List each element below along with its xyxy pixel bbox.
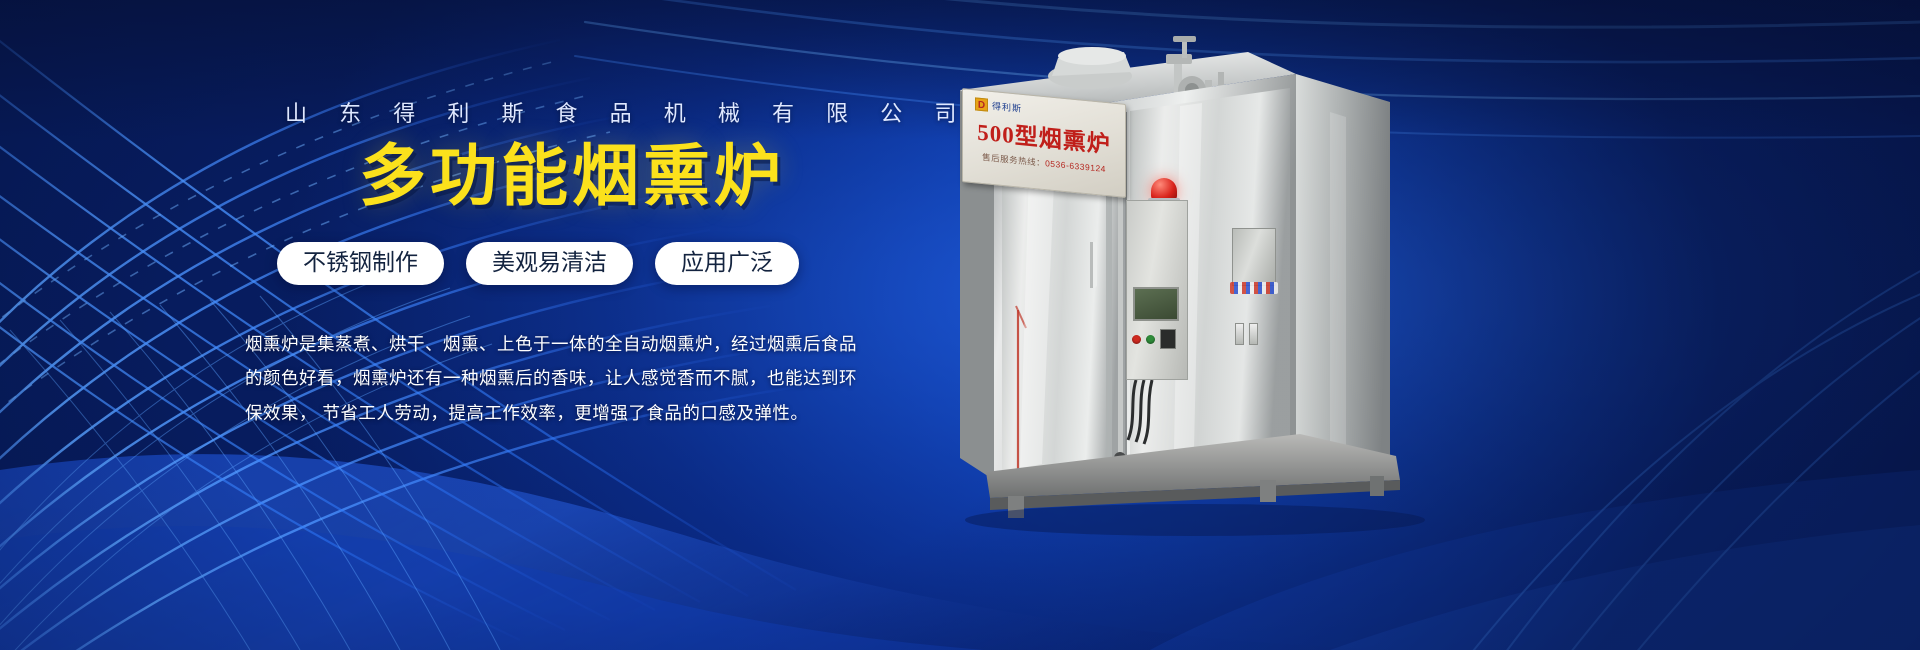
product-nameplate: D 得利斯 500型烟熏炉 售后服务热线：0536-6339124 xyxy=(962,88,1126,198)
valve-knob xyxy=(1235,323,1244,345)
door-handle xyxy=(1090,242,1097,288)
selector-switch[interactable] xyxy=(1160,329,1176,349)
wire-bundle xyxy=(1230,282,1278,294)
page-title: 多功能烟熏炉 xyxy=(245,142,865,212)
model-text: 型烟熏炉 xyxy=(1015,122,1111,157)
feature-pill-group: 不锈钢制作 美观易清洁 应用广泛 xyxy=(277,242,865,285)
service-hotline-label: 售后服务热线： xyxy=(982,152,1045,168)
description-line-2: 的颜色好看，烟熏炉还有一种烟熏后的香味，让人感觉香而不腻，也能达到环 xyxy=(245,361,820,395)
hero-copy: 山 东 得 利 斯 食 品 机 械 有 限 公 司 多功能烟熏炉 不锈钢制作 美… xyxy=(245,96,865,430)
start-button[interactable] xyxy=(1146,335,1155,344)
red-alarm-lamp-icon xyxy=(1151,178,1177,200)
product-description: 烟熏炉是集蒸煮、烘干、烟熏、上色于一体的全自动烟熏炉，经过烟熏后食品 的颜色好看… xyxy=(245,327,820,429)
stop-button[interactable] xyxy=(1132,335,1141,344)
company-subtitle: 山 东 得 利 斯 食 品 机 械 有 限 公 司 xyxy=(245,96,865,128)
junction-box xyxy=(1232,228,1276,286)
feature-pill-stainless[interactable]: 不锈钢制作 xyxy=(277,242,444,285)
model-number: 500 xyxy=(977,120,1015,149)
valve-knob-group xyxy=(1235,323,1258,345)
service-hotline-number: 0536-6339124 xyxy=(1045,158,1106,174)
control-display-screen xyxy=(1133,287,1179,321)
feature-pill-widely-used[interactable]: 应用广泛 xyxy=(655,242,799,285)
description-line-3: 保效果， 节省工人劳动，提高工作效率，更增强了食品的口感及弹性。 xyxy=(245,396,820,430)
feature-pill-easyclean[interactable]: 美观易清洁 xyxy=(466,242,633,285)
logo-mark-icon: D xyxy=(975,97,988,111)
operator-control-panel[interactable] xyxy=(1126,200,1188,380)
brand-name: 得利斯 xyxy=(992,99,1022,115)
description-line-1: 烟熏炉是集蒸煮、烘干、烟熏、上色于一体的全自动烟熏炉，经过烟熏后食品 xyxy=(245,327,820,361)
control-button-row[interactable] xyxy=(1132,329,1176,349)
valve-knob xyxy=(1249,323,1258,345)
smokehouse-oven-photo: D 得利斯 500型烟熏炉 售后服务热线：0536-6339124 xyxy=(930,28,1490,538)
hero-banner: 山 东 得 利 斯 食 品 机 械 有 限 公 司 多功能烟熏炉 不锈钢制作 美… xyxy=(0,0,1920,650)
